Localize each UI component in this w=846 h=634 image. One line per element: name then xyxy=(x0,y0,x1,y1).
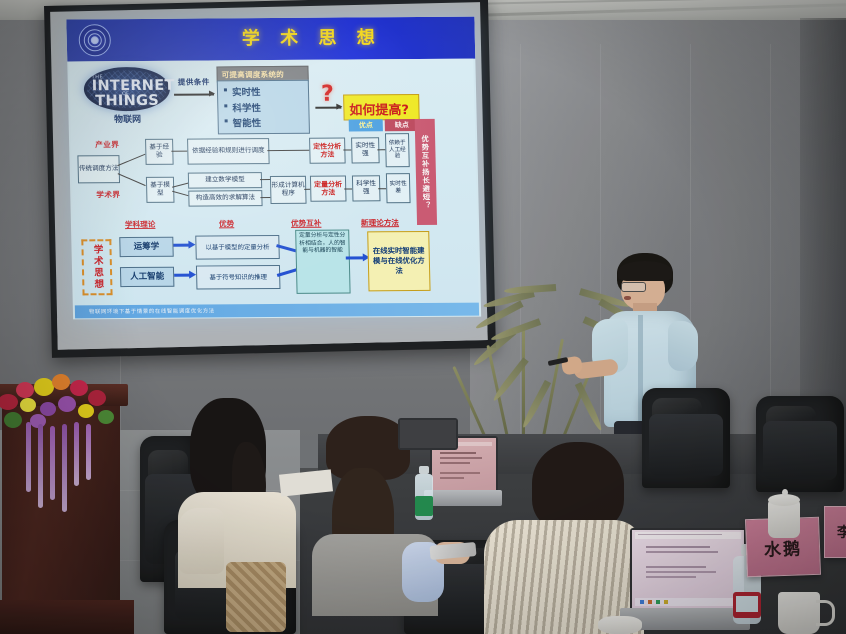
coffee-mug xyxy=(778,592,820,634)
audience-right-hair xyxy=(532,442,624,532)
presenter-mouth xyxy=(624,296,631,300)
pro-tag: 优点 xyxy=(349,119,383,131)
provide-arrow xyxy=(174,93,214,95)
flow-program-box: 形成计算机程序 xyxy=(270,176,307,204)
audience-member-left xyxy=(176,398,296,588)
laptop-right-lid xyxy=(630,528,746,614)
complementary-conclusion-box: 优势互补扬长避短？ xyxy=(415,119,437,225)
presentation-slide: 学 术 思 想 THE INTERNET OF THINGS 物联网 提供条件 … xyxy=(66,17,481,320)
laptop-center-keyboard[interactable] xyxy=(424,490,502,506)
provide-condition-label: 提供条件 xyxy=(178,76,210,87)
small-dish xyxy=(598,616,642,634)
flow-model-box: 基于模型 xyxy=(146,177,175,203)
flow-line-model-b xyxy=(172,191,190,197)
flow-branch-line-up xyxy=(117,154,145,166)
laptop-right[interactable] xyxy=(620,528,750,634)
flow-line-program-b xyxy=(260,197,270,198)
capability-list-box: 实时性 科学性 智能性 xyxy=(217,80,310,135)
flow-quantitative-box: 定量分析方法 xyxy=(310,176,347,202)
university-emblem-icon xyxy=(78,24,111,56)
presenter-right-sleeve xyxy=(668,321,698,371)
flow-rule-box: 依据经验和规则进行调度 xyxy=(187,138,270,165)
iot-things-label: THINGS xyxy=(88,93,166,110)
academic-thought-badge: 学术思想 xyxy=(81,239,112,295)
new-method-arrow xyxy=(346,256,364,259)
flow-line-demerit1 xyxy=(377,149,385,150)
presenter-fringe xyxy=(618,261,672,281)
podium-base xyxy=(0,600,134,634)
slide-footer-bar: 物联网环境下基于情景的在线智能调度优化方法 xyxy=(75,303,479,319)
slide-title-bar: 学 术 思 想 xyxy=(66,17,475,62)
ai-arrow xyxy=(174,274,190,277)
nameplate-secondary: 李 xyxy=(824,506,846,558)
handbag xyxy=(226,562,286,632)
academic-thought-text: 学术思想 xyxy=(89,244,104,290)
glasses-icon xyxy=(621,282,646,292)
or-arrow xyxy=(173,244,189,247)
capability-header-text: 可提高调度系统的 xyxy=(221,69,284,80)
slide-footer-text: 物联网环境下基于情景的在线智能调度优化方法 xyxy=(89,306,215,315)
flow-line-demerit2 xyxy=(378,188,386,189)
projection-screen: 学 术 思 想 THE INTERNET OF THINGS 物联网 提供条件 … xyxy=(44,0,496,358)
laptop-far-lid xyxy=(398,418,458,450)
chair-back-left xyxy=(642,388,730,488)
flow-merit-science-box: 科学性强 xyxy=(352,175,381,201)
capability-item: 实时性 xyxy=(232,84,308,99)
new-method-header: 新理论方法 xyxy=(361,217,399,228)
complementary-header: 优势互补 xyxy=(291,218,322,229)
flow-line-program-a xyxy=(260,179,270,180)
new-method-box: 在线实时智能建模与在线优化方法 xyxy=(367,231,430,291)
ai-advantage-box: 基于符号知识的推理 xyxy=(196,265,281,290)
iot-chinese-label: 物联网 xyxy=(84,112,170,126)
flow-root-box: 传统调度方法 xyxy=(77,155,120,183)
slide-body: THE INTERNET OF THINGS 物联网 提供条件 可提高调度系统的… xyxy=(69,59,479,306)
laptop-right-screen[interactable] xyxy=(632,530,744,612)
flow-experience-box: 基于经验 xyxy=(145,139,174,165)
industry-label: 产业界 xyxy=(95,139,119,150)
flow-merit-realtime-box: 实时性强 xyxy=(351,137,380,163)
tea-cup-lid-knob xyxy=(782,489,788,496)
flow-line-exp xyxy=(171,151,187,152)
how-to-improve-box: 如何提高? xyxy=(343,94,420,121)
combined-intelligence-box: 定量分析与定性分析相结合，人的智能与机器的智能 xyxy=(295,230,350,294)
flow-line-merit1 xyxy=(343,149,351,150)
wall-corner-shadow xyxy=(800,18,846,448)
or-advantage-box: 以基于模型的定量分析 xyxy=(195,235,280,260)
flow-demerit-human-box: 依赖于人工经验 xyxy=(385,133,410,167)
laptop-far-screen[interactable] xyxy=(400,420,456,448)
how-to-improve-text: 如何提高? xyxy=(349,99,409,118)
capability-item: 科学性 xyxy=(232,99,308,114)
flow-line-qual xyxy=(267,150,309,151)
academia-label: 学术界 xyxy=(96,189,120,200)
laptop-far-center[interactable] xyxy=(398,418,454,452)
discipline-theory-header: 学科理论 xyxy=(125,219,156,230)
flow-line-model-a xyxy=(172,182,190,187)
coffee-mug-handle xyxy=(816,600,835,626)
flower-arrangement xyxy=(0,368,134,503)
internet-of-things-graphic: THE INTERNET OF THINGS 物联网 xyxy=(83,67,170,124)
flow-line-merit2 xyxy=(344,188,352,189)
question-mark-icon: ? xyxy=(321,82,334,107)
flow-qualitative-box: 定性分析方法 xyxy=(309,138,346,164)
water-bottle-center xyxy=(414,466,434,520)
flow-branch-line-down xyxy=(118,173,146,186)
chair-back-right xyxy=(756,396,844,492)
how-arrow xyxy=(315,107,341,109)
ai-box: 人工智能 xyxy=(120,267,174,287)
slide-title: 学 术 思 想 xyxy=(186,23,437,51)
advantage-header: 优势 xyxy=(219,218,234,229)
capability-item: 智能性 xyxy=(233,115,309,130)
flow-algorithm-box: 构造高效的求解算法 xyxy=(188,190,262,207)
flow-math-model-box: 建立数学模型 xyxy=(188,172,262,189)
operations-research-box: 运筹学 xyxy=(119,237,173,257)
audience-left-sleeve xyxy=(178,508,224,574)
seminar-room-photo: 学 术 思 想 THE INTERNET OF THINGS 物联网 提供条件 … xyxy=(0,0,846,634)
flow-demerit-slow-box: 实时性差 xyxy=(386,173,411,203)
